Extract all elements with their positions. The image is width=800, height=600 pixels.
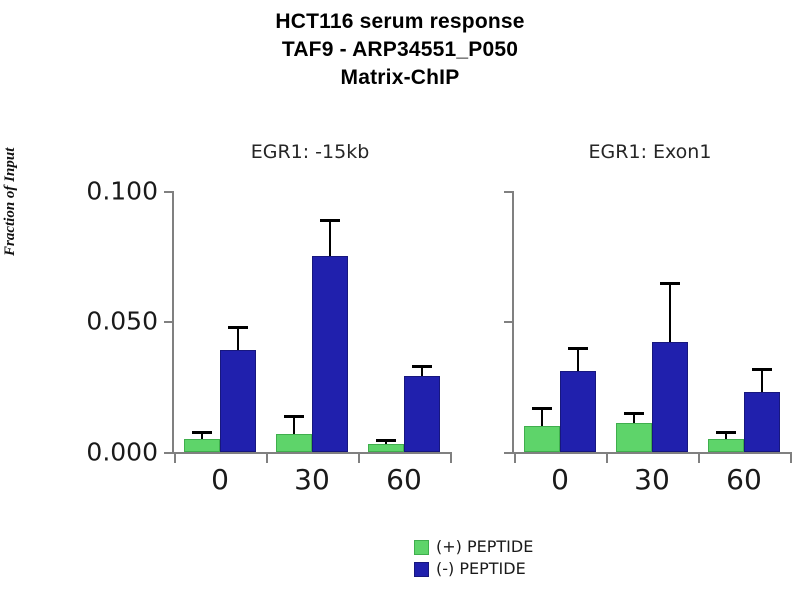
x-tick-label-left-0: 0 bbox=[174, 464, 266, 496]
x-axis-tick bbox=[606, 452, 608, 463]
x-axis-line-right bbox=[512, 452, 790, 454]
bar-slot bbox=[560, 186, 596, 452]
x-tick-label-right-60: 60 bbox=[698, 464, 790, 496]
x-axis-tick bbox=[514, 452, 516, 463]
x-tick-labels-left: 03060 bbox=[174, 464, 450, 496]
x-tick-labels-right: 03060 bbox=[514, 464, 790, 496]
x-axis-tick bbox=[174, 452, 176, 463]
legend-label-plus-peptide: (+) PEPTIDE bbox=[436, 538, 533, 556]
error-bar-cap bbox=[660, 282, 680, 285]
error-bar-cap bbox=[532, 407, 552, 410]
bar-group-left-60 bbox=[358, 186, 450, 452]
bar-slot bbox=[616, 186, 652, 452]
bar-groups-left bbox=[174, 186, 450, 452]
error-bar-stem bbox=[633, 415, 635, 423]
error-bar-stem bbox=[385, 442, 387, 445]
bar-left-30-minus-peptide[interactable] bbox=[312, 256, 348, 452]
bar-slot bbox=[276, 186, 312, 452]
bar-left-0-minus-peptide[interactable] bbox=[220, 350, 256, 452]
error-bar-cap bbox=[320, 219, 340, 222]
bar-slot bbox=[524, 186, 560, 452]
bar-right-60-minus-peptide[interactable] bbox=[744, 392, 780, 452]
subplot-title-left: EGR1: -15kb bbox=[160, 140, 460, 164]
bar-slot bbox=[220, 186, 256, 452]
blue-swatch-icon bbox=[414, 562, 429, 577]
error-bar-cap bbox=[624, 412, 644, 415]
y-axis-label: Fraction of Input bbox=[2, 148, 19, 256]
x-tick-label-left-30: 30 bbox=[266, 464, 358, 496]
bar-slot bbox=[744, 186, 780, 452]
bar-group-right-60 bbox=[698, 186, 790, 452]
error-bar-stem bbox=[237, 329, 239, 350]
y-tick-label-left-2: 0.000 bbox=[86, 440, 158, 465]
y-tick-label-left-1: 0.050 bbox=[86, 309, 158, 334]
bar-left-60-plus-peptide[interactable] bbox=[368, 444, 404, 452]
bar-left-60-minus-peptide[interactable] bbox=[404, 376, 440, 452]
bar-groups-right bbox=[514, 186, 790, 452]
x-axis-tick bbox=[358, 452, 360, 463]
bar-group-right-30 bbox=[606, 186, 698, 452]
y-tick-right-1 bbox=[504, 321, 513, 323]
x-axis-tick bbox=[266, 452, 268, 463]
bar-slot bbox=[708, 186, 744, 452]
bar-right-60-plus-peptide[interactable] bbox=[708, 439, 744, 452]
error-bar-stem bbox=[761, 371, 763, 392]
y-tick-right-2 bbox=[504, 452, 513, 454]
x-tick-label-left-60: 60 bbox=[358, 464, 450, 496]
subplot-title-right: EGR1: Exon1 bbox=[500, 140, 800, 164]
bar-left-0-plus-peptide[interactable] bbox=[184, 439, 220, 452]
x-axis-tick bbox=[790, 452, 792, 463]
bar-slot bbox=[312, 186, 348, 452]
bar-group-right-0 bbox=[514, 186, 606, 452]
bar-slot bbox=[368, 186, 404, 452]
x-tick-label-right-30: 30 bbox=[606, 464, 698, 496]
error-bar-cap bbox=[376, 439, 396, 442]
plot-area-left: 0.100 0.050 0.000 03060 bbox=[160, 186, 460, 456]
legend-label-minus-peptide: (-) PEPTIDE bbox=[436, 560, 526, 578]
error-bar-cap bbox=[752, 368, 772, 371]
plot-area-right: 03060 bbox=[500, 186, 800, 456]
error-bar-stem bbox=[329, 222, 331, 256]
error-bar-cap bbox=[568, 347, 588, 350]
error-bar-cap bbox=[716, 431, 736, 434]
x-axis-tick bbox=[450, 452, 452, 463]
error-bar-cap bbox=[284, 415, 304, 418]
chart-title-line-1: HCT116 serum response bbox=[0, 8, 800, 36]
error-bar-cap bbox=[228, 326, 248, 329]
y-tick-left-1: 0.050 bbox=[164, 321, 173, 323]
bar-group-left-0 bbox=[174, 186, 266, 452]
legend-item-plus-peptide[interactable]: (+) PEPTIDE bbox=[414, 536, 533, 558]
error-bar-stem bbox=[201, 434, 203, 439]
y-tick-label-left-0: 0.100 bbox=[86, 179, 158, 204]
chart-title-line-2: TAF9 - ARP34551_P050 bbox=[0, 36, 800, 64]
error-bar-cap bbox=[412, 365, 432, 368]
bar-slot bbox=[404, 186, 440, 452]
bar-right-30-minus-peptide[interactable] bbox=[652, 342, 688, 452]
error-bar-stem bbox=[669, 285, 671, 342]
bar-group-left-30 bbox=[266, 186, 358, 452]
x-axis-tick bbox=[698, 452, 700, 463]
error-bar-stem bbox=[421, 368, 423, 376]
legend: (+) PEPTIDE (-) PEPTIDE bbox=[414, 536, 533, 580]
green-swatch-icon bbox=[414, 540, 429, 555]
bar-slot bbox=[652, 186, 688, 452]
bar-left-30-plus-peptide[interactable] bbox=[276, 434, 312, 452]
y-tick-right-0 bbox=[504, 191, 513, 193]
error-bar-stem bbox=[725, 434, 727, 439]
chart-title: HCT116 serum response TAF9 - ARP34551_P0… bbox=[0, 8, 800, 92]
y-tick-left-0: 0.100 bbox=[164, 191, 173, 193]
error-bar-stem bbox=[293, 418, 295, 434]
x-tick-label-right-0: 0 bbox=[514, 464, 606, 496]
x-axis-line-left bbox=[172, 452, 450, 454]
error-bar-cap bbox=[192, 431, 212, 434]
y-tick-left-2: 0.000 bbox=[164, 452, 173, 454]
bar-right-0-plus-peptide[interactable] bbox=[524, 426, 560, 452]
bar-right-0-minus-peptide[interactable] bbox=[560, 371, 596, 452]
error-bar-stem bbox=[577, 350, 579, 371]
error-bar-stem bbox=[541, 410, 543, 426]
chart-title-line-3: Matrix-ChIP bbox=[0, 64, 800, 92]
bar-right-30-plus-peptide[interactable] bbox=[616, 423, 652, 452]
legend-item-minus-peptide[interactable]: (-) PEPTIDE bbox=[414, 558, 533, 580]
bar-slot bbox=[184, 186, 220, 452]
